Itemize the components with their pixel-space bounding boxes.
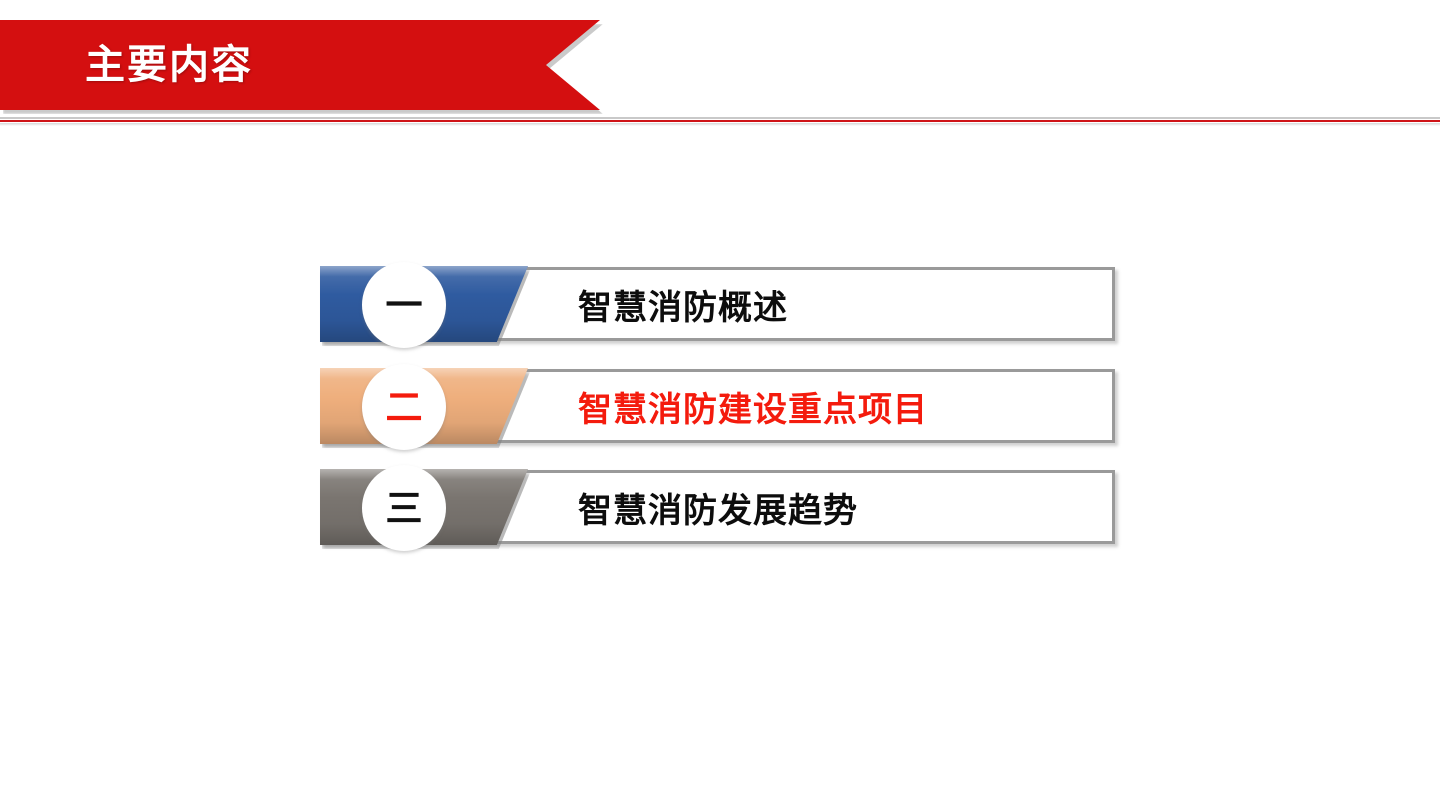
agenda-list: 一 智慧消防概述 二 智慧消防建设重点项目 三 智慧消防发展趋势 [0, 0, 1440, 810]
agenda-numeral-circle: 二 [362, 364, 446, 450]
agenda-item-2[interactable]: 二 智慧消防建设重点项目 [320, 369, 1115, 443]
agenda-numeral: 三 [386, 490, 423, 527]
agenda-numeral-circle: 三 [362, 465, 446, 551]
agenda-numeral: 一 [386, 287, 423, 324]
agenda-item-label: 智慧消防概述 [578, 267, 788, 341]
agenda-numeral-circle: 一 [362, 262, 446, 348]
agenda-numeral: 二 [386, 389, 423, 426]
agenda-item-3[interactable]: 三 智慧消防发展趋势 [320, 470, 1115, 544]
agenda-item-label: 智慧消防建设重点项目 [578, 369, 928, 443]
agenda-item-label: 智慧消防发展趋势 [578, 470, 858, 544]
agenda-item-1[interactable]: 一 智慧消防概述 [320, 267, 1115, 341]
